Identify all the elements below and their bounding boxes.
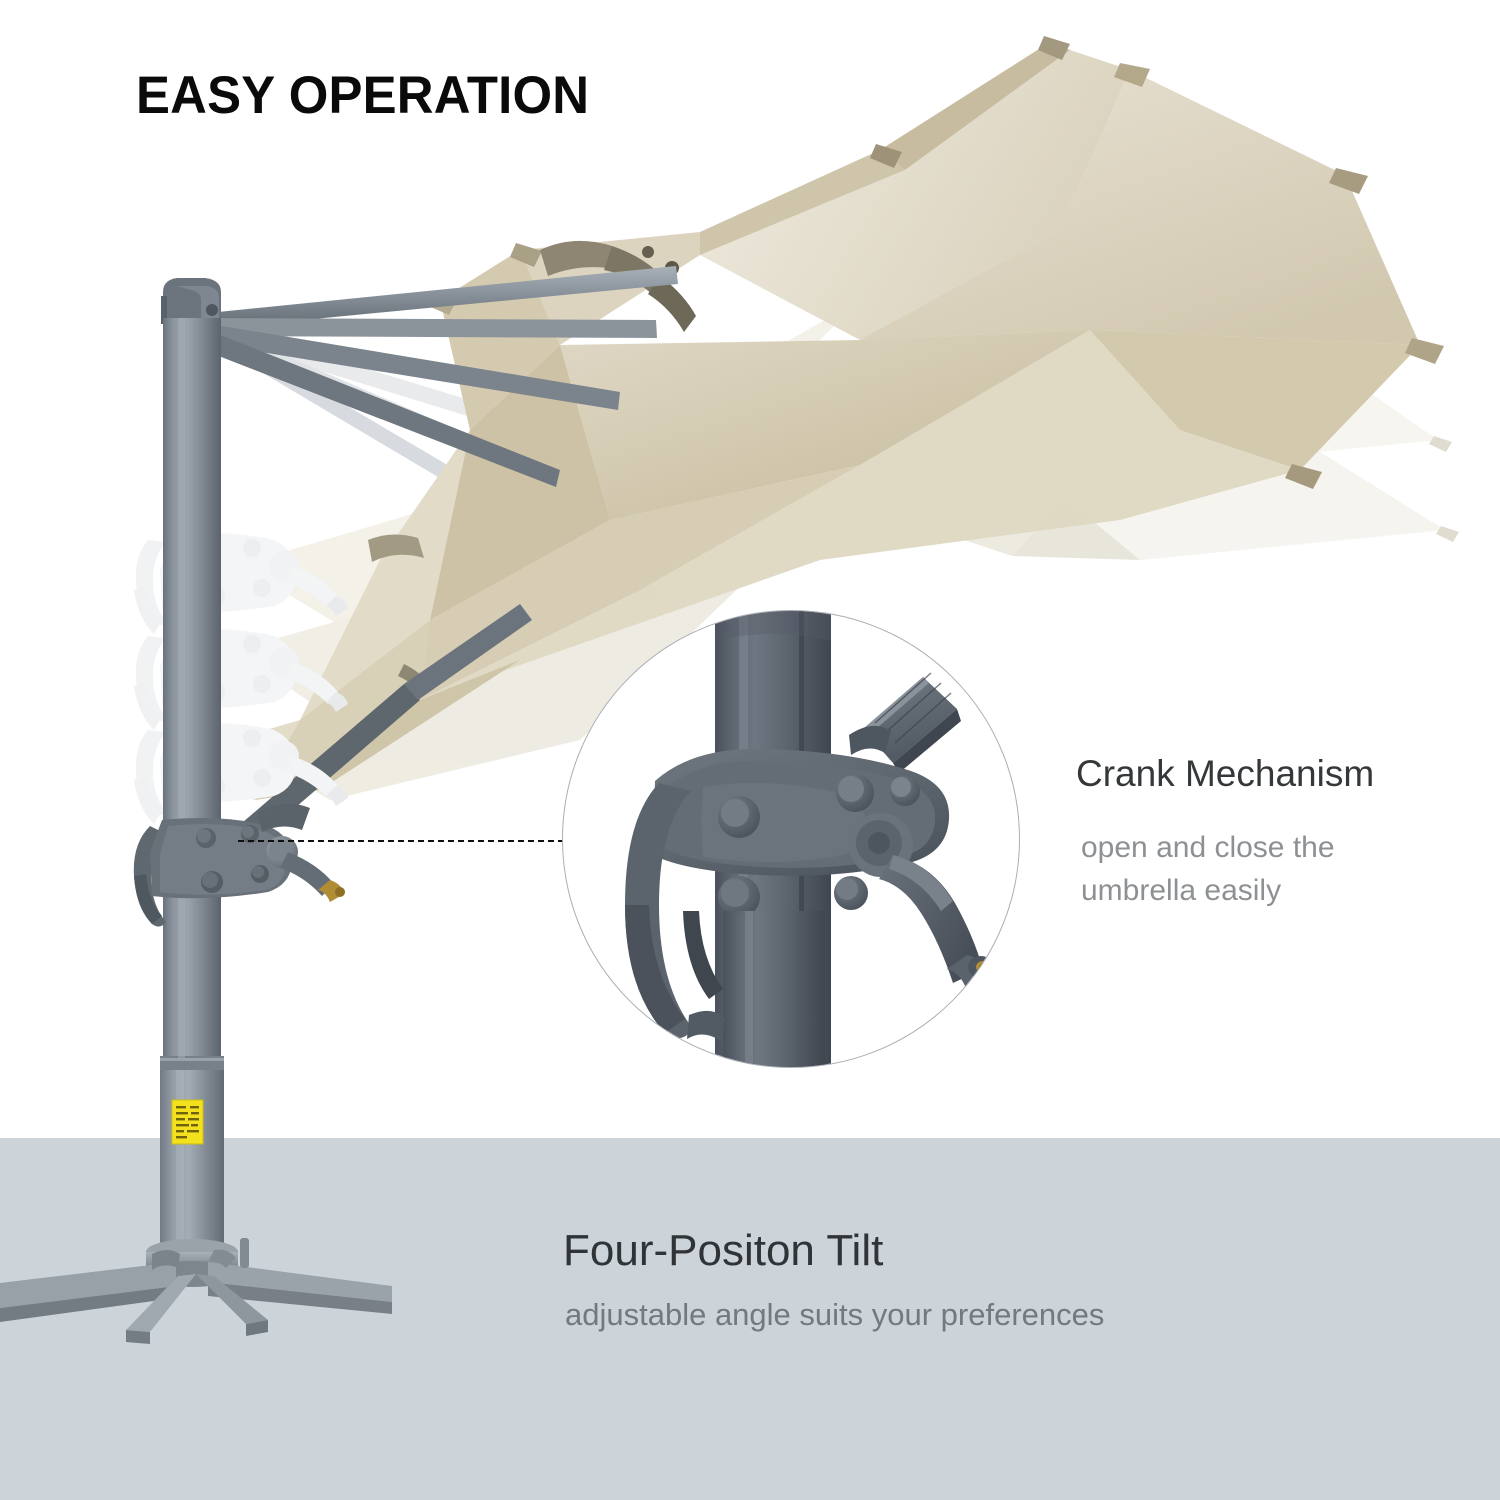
detail-tilt-strut <box>849 673 961 773</box>
tilt-callout-subtitle: adjustable angle suits your preferences <box>565 1297 1104 1333</box>
dashed-leader-line <box>238 840 564 842</box>
cross-base <box>0 1238 392 1344</box>
product-feature-graphic: EASY OPERATION <box>0 0 1500 1500</box>
detail-crank-arm <box>879 855 994 991</box>
tilt-callout-title: Four-Positon Tilt <box>563 1226 883 1276</box>
crank-detail-circle <box>562 610 1020 1068</box>
crank-callout-subtitle: open and close the umbrella easily <box>1081 827 1335 912</box>
crank-detail-illustration <box>563 611 1019 1067</box>
warning-label-sticker <box>172 1100 203 1144</box>
page-title: EASY OPERATION <box>136 68 589 124</box>
crank-callout-title: Crank Mechanism <box>1076 753 1374 795</box>
